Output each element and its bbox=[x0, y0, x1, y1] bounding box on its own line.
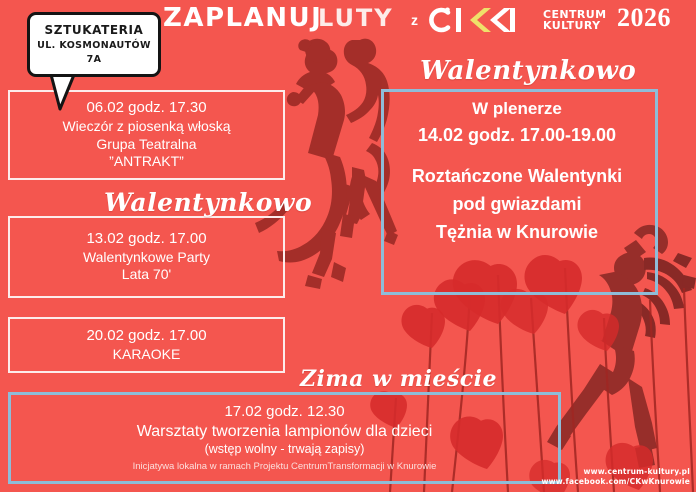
event5-script-heading: Walentynkowo bbox=[420, 56, 636, 86]
header-plan-word: ZAPLANUJ bbox=[163, 3, 322, 33]
event4-line3: (wstęp wolny - trwają zapisy) bbox=[205, 442, 365, 458]
event3-datetime: 20.02 godz. 17.00 bbox=[86, 327, 206, 346]
event2-line3: Lata 70' bbox=[122, 266, 171, 284]
poster-canvas: ZAPLANUJ LUTY z CENTRUM KULTURY 2 bbox=[0, 0, 696, 492]
event5-line2: 14.02 godz. 17.00-19.00 bbox=[352, 122, 682, 150]
event4-datetime: 17.02 godz. 12.30 bbox=[224, 403, 344, 422]
event1-line3: Grupa Teatralna bbox=[96, 136, 196, 154]
header-with-word: z bbox=[411, 12, 418, 28]
venue-number: 7A bbox=[34, 54, 154, 65]
logo-line-kultury: KULTURY bbox=[543, 20, 606, 31]
event4-line4: Inicjatywa lokalna w ramach Projektu Cen… bbox=[133, 461, 437, 473]
header-year: 2026 bbox=[617, 3, 671, 33]
event4-line2: Warsztaty tworzenia lampionów dla dzieci bbox=[137, 422, 433, 442]
venue-speech-bubble: SZTUKATERIA UL. KOSMONAUTÓW 7A bbox=[27, 12, 161, 77]
venue-name: SZTUKATERIA bbox=[34, 23, 154, 37]
event5-line4: pod gwiazdami bbox=[352, 191, 682, 219]
event5-text-block: W plenerze 14.02 godz. 17.00-19.00 Rozta… bbox=[352, 96, 682, 247]
event1-datetime: 06.02 godz. 17.30 bbox=[86, 99, 206, 118]
footer-links: www.centrum-kultury.pl www.facebook.com/… bbox=[542, 467, 690, 487]
footer-facebook[interactable]: www.facebook.com/CKwKnurowie bbox=[542, 477, 690, 487]
header-month: LUTY bbox=[318, 4, 394, 32]
event-box-3[interactable]: 20.02 godz. 17.00 KARAOKE bbox=[8, 317, 285, 373]
event4-script-heading: Zima w mieście bbox=[300, 366, 497, 392]
event1-line4: ”ANTRAKT” bbox=[109, 153, 184, 171]
event2-line2: Walentynkowe Party bbox=[83, 249, 210, 267]
event-box-4[interactable]: 17.02 godz. 12.30 Warsztaty tworzenia la… bbox=[8, 392, 561, 484]
event2-script-heading: Walentynkowo bbox=[104, 188, 312, 217]
ckk-logo-mark bbox=[428, 6, 538, 34]
event1-line2: Wieczór z piosenką włoską bbox=[62, 118, 230, 136]
venue-street: UL. KOSMONAUTÓW bbox=[34, 40, 154, 51]
footer-website[interactable]: www.centrum-kultury.pl bbox=[542, 467, 690, 477]
event-box-2[interactable]: 13.02 godz. 17.00 Walentynkowe Party Lat… bbox=[8, 216, 285, 298]
ckk-logo: CENTRUM KULTURY bbox=[428, 5, 606, 35]
event3-line2: KARAOKE bbox=[113, 346, 181, 364]
event5-line1: W plenerze bbox=[352, 96, 682, 122]
event5-line5: Tężnia w Knurowie bbox=[352, 219, 682, 247]
ckk-logo-text: CENTRUM KULTURY bbox=[543, 9, 606, 31]
event2-datetime: 13.02 godz. 17.00 bbox=[86, 230, 206, 249]
event5-line3: Roztańczone Walentynki bbox=[352, 163, 682, 191]
